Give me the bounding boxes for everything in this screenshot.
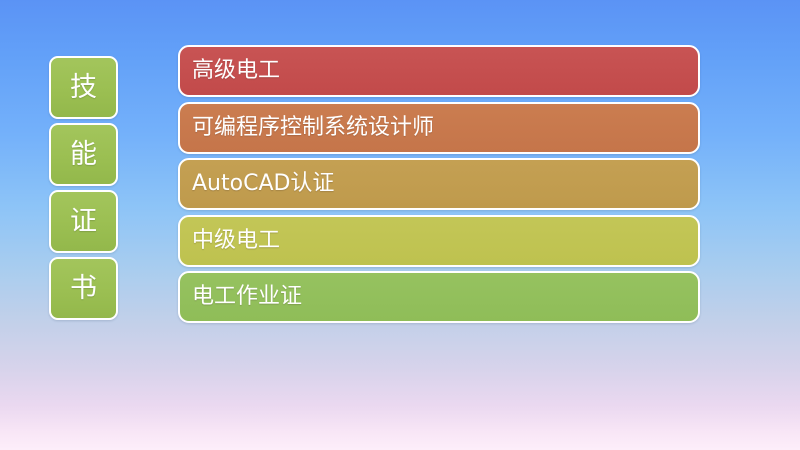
certificate-label: 高级电工 (192, 60, 280, 82)
side-label-column: 技 能 证 书 (49, 56, 118, 320)
side-label-char-3: 书 (49, 257, 118, 320)
certificate-item[interactable]: 可编程序控制系统设计师 (178, 102, 700, 154)
slide-canvas: 技 能 证 书 高级电工 可编程序控制系统设计师 AutoCAD认证 中级电工 … (0, 0, 800, 450)
certificate-item[interactable]: 中级电工 (178, 215, 700, 267)
certificate-list: 高级电工 可编程序控制系统设计师 AutoCAD认证 中级电工 电工作业证 (178, 45, 700, 323)
side-label-char-text: 证 (70, 208, 97, 235)
certificate-item[interactable]: AutoCAD认证 (178, 158, 700, 210)
certificate-label: AutoCAD认证 (192, 173, 334, 195)
side-label-char-text: 技 (70, 74, 97, 101)
certificate-label: 电工作业证 (192, 286, 302, 308)
side-label-char-2: 证 (49, 190, 118, 253)
side-label-char-1: 能 (49, 123, 118, 186)
certificate-item[interactable]: 高级电工 (178, 45, 700, 97)
certificate-item[interactable]: 电工作业证 (178, 271, 700, 323)
side-label-char-text: 能 (70, 141, 97, 168)
certificate-label: 可编程序控制系统设计师 (192, 117, 434, 139)
certificate-label: 中级电工 (192, 230, 280, 252)
side-label-char-0: 技 (49, 56, 118, 119)
side-label-char-text: 书 (70, 275, 97, 302)
